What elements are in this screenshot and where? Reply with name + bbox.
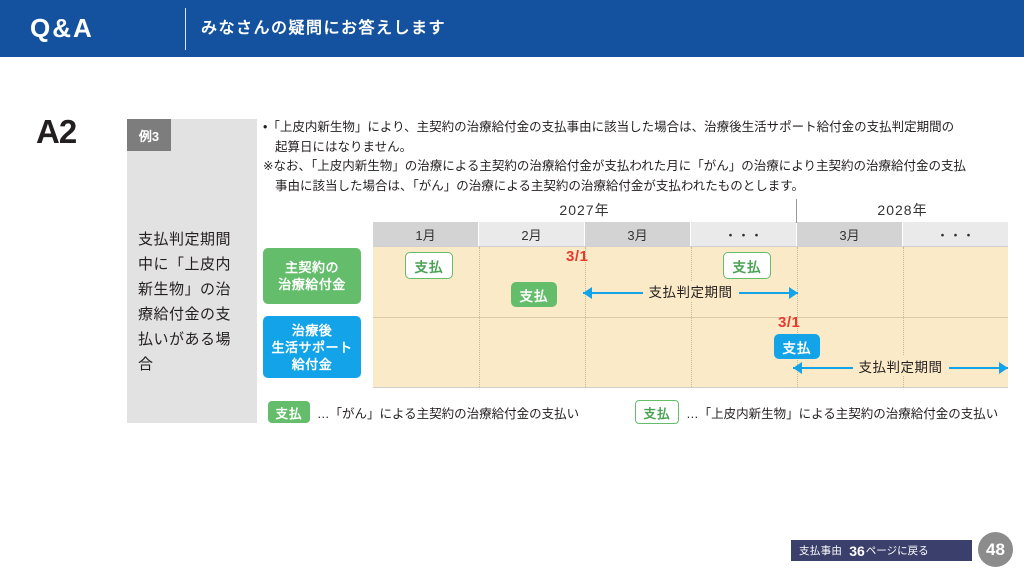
timeline-row-divider (373, 317, 1008, 318)
timeline-month-4: 3月 (797, 222, 902, 246)
legend-badge-cancer: 支払 (268, 401, 310, 423)
row-label-main-line2: 治療給付金 (278, 276, 346, 293)
timeline-month-1: 2月 (479, 222, 584, 246)
payment-period-label-row2: 支払判定期間 (853, 356, 949, 376)
timeline-month-2: 3月 (585, 222, 690, 246)
back-button-page-number: 36 (849, 543, 865, 559)
header-qa-title: Q&A (30, 13, 94, 43)
payment-badge-row1-ellipsis[interactable]: 支払 (723, 252, 771, 279)
back-to-page-button[interactable]: 支払事由 36 ページに戻る (791, 540, 972, 561)
payment-badge-row1-feb[interactable]: 支払 (511, 282, 557, 307)
arrow-head-left-row2 (793, 362, 802, 374)
payment-period-arrow-row1: 支払判定期間 (583, 283, 798, 303)
case-panel: 例3 支払判定期間中に「上皮内新生物」の治療給付金の支払いがある場合 (127, 119, 257, 423)
payment-period-label-row1: 支払判定期間 (643, 281, 739, 301)
arrow-head-right-row1 (789, 287, 798, 299)
timeline-year-header: 2027年 2028年 (373, 198, 1008, 222)
note-line-4: 事由に該当した場合は、「がん」の治療による主契約の治療給付金が支払われたものとし… (263, 177, 1013, 197)
legend-item-cancer: 支払 …「がん」による主契約の治療給付金の支払い (268, 401, 579, 423)
payment-badge-row2-mar[interactable]: 支払 (774, 334, 820, 359)
row-label-support-line2: 生活サポート (271, 339, 352, 356)
timeline-year-2028: 2028年 (797, 198, 1008, 222)
timeline-month-0: 1月 (373, 222, 478, 246)
case-description: 支払判定期間中に「上皮内新生物」の治療給付金の支払いがある場合 (138, 227, 246, 377)
payment-period-arrow-row2: 支払判定期間 (793, 358, 1008, 378)
arrow-head-right-row2 (999, 362, 1008, 374)
back-button-suffix: ページに戻る (866, 543, 929, 558)
page-header: Q&A みなさんの疑問にお答えします (0, 0, 1024, 57)
back-button-prefix: 支払事由 (799, 543, 842, 558)
row-label-support-line3: 給付金 (271, 356, 352, 373)
date-mark-row1: 3/1 (566, 248, 588, 265)
legend: 支払 …「がん」による主契約の治療給付金の支払い 支払 …「上皮内新生物」による… (268, 400, 998, 424)
legend-badge-carcinoma-in-situ: 支払 (635, 400, 679, 424)
timeline-chart: 2027年 2028年 1月 2月 3月 ・・・ 3月 ・・・ 主契約の 治療給… (263, 198, 1008, 388)
header-subtitle: みなさんの疑問にお答えします (201, 19, 446, 39)
timeline-month-5: ・・・ (903, 222, 1008, 246)
notes-block: •「上皮内新生物」により、主契約の治療給付金の支払事由に該当した場合は、治療後生… (263, 118, 1013, 196)
note-line-3: ※なお、「上皮内新生物」の治療による主契約の治療給付金が支払われた月に「がん」の… (263, 157, 1013, 177)
row-label-main-contract: 主契約の 治療給付金 (263, 248, 361, 304)
legend-text-carcinoma-in-situ: …「上皮内新生物」による主契約の治療給付金の支払い (686, 403, 998, 422)
row-label-post-treatment-support: 治療後 生活サポート 給付金 (263, 316, 361, 378)
payment-badge-row1-jan[interactable]: 支払 (405, 252, 453, 279)
timeline-year-2027: 2027年 (373, 198, 796, 222)
note-line-1: •「上皮内新生物」により、主契約の治療給付金の支払事由に該当した場合は、治療後生… (263, 118, 1013, 138)
timeline-month-3: ・・・ (691, 222, 796, 246)
answer-marker: A2 (36, 113, 76, 151)
legend-item-carcinoma-in-situ: 支払 …「上皮内新生物」による主契約の治療給付金の支払い (635, 400, 998, 424)
arrow-head-left-row1 (583, 287, 592, 299)
timeline-month-header: 1月 2月 3月 ・・・ 3月 ・・・ (373, 222, 1008, 246)
legend-text-cancer: …「がん」による主契約の治療給付金の支払い (317, 403, 579, 422)
page-number-badge: 48 (978, 532, 1013, 567)
date-mark-row2: 3/1 (778, 314, 800, 331)
row-label-main-line1: 主契約の (278, 259, 346, 276)
note-line-2: 起算日にはなりません。 (263, 138, 1013, 158)
case-tag: 例3 (127, 119, 171, 151)
row-label-support-line1: 治療後 (271, 322, 352, 339)
header-divider (185, 8, 186, 50)
